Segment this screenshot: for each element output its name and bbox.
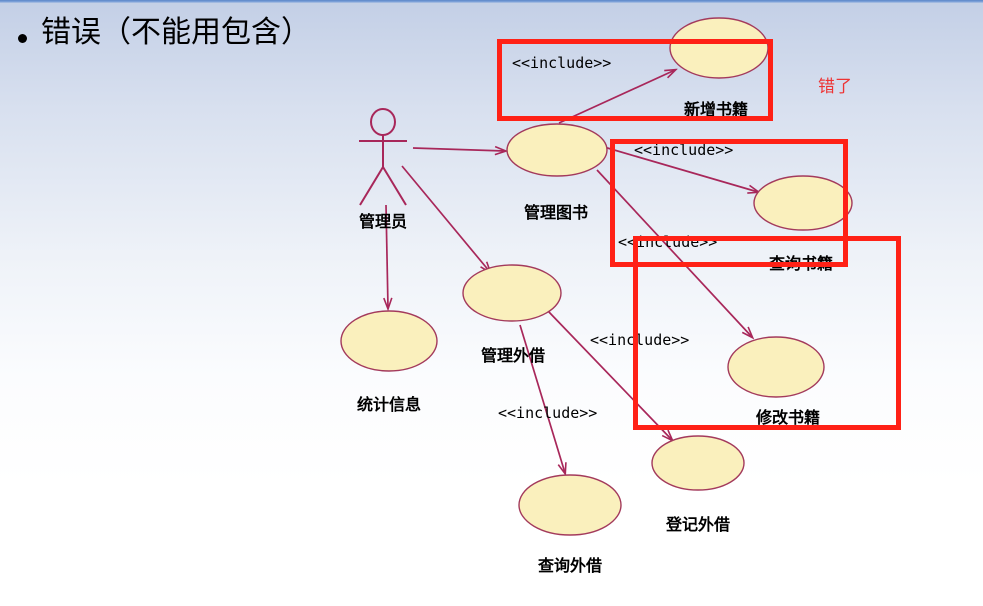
connector-admin-to-manage-books (413, 148, 505, 151)
actor-limb-3 (383, 167, 406, 205)
use-case-label-manage-books: 管理图书 (524, 199, 588, 223)
actor-label-admin: 管理员 (359, 208, 407, 232)
use-case-label-record-loan: 登记外借 (666, 511, 730, 535)
connector-admin-to-manage-loan (402, 166, 490, 272)
slide-canvas: 错误（不能用包含） 管理员新增书籍管理图书查询书籍修改书籍统计信息管理外借查询外… (0, 0, 983, 606)
highlight-box-edit-book (633, 236, 901, 430)
use-case-ellipse-stats[interactable] (341, 311, 437, 371)
actors-layer (359, 109, 407, 205)
error-annotation: 错了 (818, 72, 852, 97)
use-case-ellipse-manage-books[interactable] (507, 124, 607, 176)
use-case-label-query-loan: 查询外借 (538, 552, 602, 576)
highlight-box-add-book (497, 39, 773, 121)
use-case-label-stats: 统计信息 (357, 391, 421, 415)
include-label-inc-query-loan: <<include>> (498, 404, 597, 422)
use-case-label-manage-loan: 管理外借 (481, 342, 545, 366)
actor-limb-2 (360, 167, 383, 205)
use-case-ellipse-query-loan[interactable] (519, 475, 621, 535)
actor-admin[interactable] (359, 109, 407, 205)
use-case-ellipse-record-loan[interactable] (652, 436, 744, 490)
use-case-ellipse-manage-loan[interactable] (463, 265, 561, 321)
actor-head-icon (371, 109, 395, 135)
